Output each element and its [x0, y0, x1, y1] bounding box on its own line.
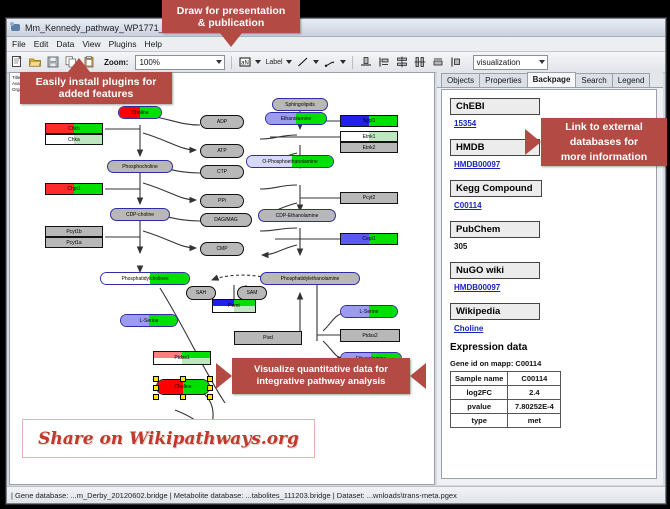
- backpage-header-nugowiki: NuGO wiki: [450, 262, 540, 279]
- menu-help[interactable]: Help: [145, 39, 162, 49]
- menu-view[interactable]: View: [82, 39, 100, 49]
- table-cell-value: met: [508, 414, 561, 428]
- table-row: log2FC 2.4: [451, 386, 561, 400]
- menu-bar: File Edit Data View Plugins Help: [7, 37, 665, 52]
- table-cell-key: Sample name: [451, 372, 508, 386]
- cofactor-node-atp[interactable]: ATP: [200, 144, 244, 158]
- callout-pointer-left: [525, 129, 541, 155]
- zoom-label: Zoom:: [104, 58, 128, 67]
- callout-external-databases: Link to external databases for more info…: [541, 118, 667, 166]
- table-cell-value: 7.80252E-4: [508, 400, 561, 414]
- node-label: DAG/MAG: [214, 217, 238, 223]
- cofactor-node-sam[interactable]: SAM: [237, 286, 267, 300]
- new-file-button[interactable]: [10, 55, 24, 69]
- open-folder-button[interactable]: [28, 55, 42, 69]
- menu-edit[interactable]: Edit: [34, 39, 49, 49]
- callout-line-1: Easily install plugins for: [36, 76, 157, 88]
- metabolite-node-l-serine-right[interactable]: L-Serine: [340, 305, 398, 318]
- tab-properties[interactable]: Properties: [479, 73, 527, 87]
- interaction-tool[interactable]: [323, 55, 337, 69]
- node-label: Pemt: [228, 303, 240, 309]
- menu-file[interactable]: File: [12, 39, 26, 49]
- node-label: ATP: [217, 148, 226, 154]
- backpage-header-kegg: Kegg Compound: [450, 180, 542, 197]
- gene-node-pcyt1a[interactable]: Pcyt1a: [45, 237, 103, 248]
- gene-node-sgpl1[interactable]: Sgpl1: [340, 115, 398, 127]
- stack-tool[interactable]: [449, 55, 463, 69]
- node-label: SAH: [196, 290, 206, 296]
- chevron-down-icon[interactable]: [340, 60, 346, 64]
- tab-objects[interactable]: Objects: [441, 73, 480, 87]
- callout-pointer-up: [68, 58, 90, 72]
- backpage-link-wikipedia[interactable]: Choline: [454, 324, 648, 333]
- status-bar-text: | Gene database: ...m_Derby_20120602.bri…: [11, 491, 457, 500]
- selection-handle[interactable]: [207, 385, 213, 391]
- callout-pointer-down: [220, 33, 242, 47]
- node-label: Chka: [68, 137, 80, 143]
- metabolite-node-l-serine-left[interactable]: L-Serine: [120, 314, 178, 327]
- backpage-link-nugowiki[interactable]: HMDB00097: [454, 283, 648, 292]
- metabolite-node-cdp-ethanolamine[interactable]: CDP-Ethanolamine: [258, 209, 336, 222]
- metabolite-node-phosphocholine[interactable]: Phosphocholine: [107, 160, 173, 173]
- node-label: ADP: [217, 119, 227, 125]
- backpage-header-pubchem: PubChem: [450, 221, 540, 238]
- selection-handle[interactable]: [207, 376, 213, 382]
- node-label: Ptdss1: [174, 355, 189, 361]
- table-cell-key: pvalue: [451, 400, 508, 414]
- callout-line-2: & publication: [198, 17, 265, 29]
- selection-handle[interactable]: [153, 394, 159, 400]
- gene-node-pemt[interactable]: Pemt: [212, 299, 256, 313]
- tab-search[interactable]: Search: [575, 73, 612, 87]
- chevron-down-icon: [539, 60, 545, 64]
- share-banner-text: Share on Wikipathways.org: [38, 429, 299, 449]
- callout-install-plugins: Easily install plugins for added feature…: [20, 72, 172, 104]
- callout-line-2: databases for: [570, 135, 638, 150]
- share-banner: Share on Wikipathways.org: [22, 419, 315, 458]
- gene-node-etnk1[interactable]: Etnk1: [340, 131, 398, 142]
- node-label: CTP: [217, 169, 227, 175]
- common-width-tool[interactable]: [431, 55, 445, 69]
- node-label: Etnk1: [363, 134, 376, 140]
- gene-node-pcyt1b[interactable]: Pcyt1b: [45, 226, 103, 237]
- toolbar-separator: [231, 56, 232, 69]
- cofactor-node-ctp[interactable]: CTP: [200, 165, 244, 179]
- gene-node-pisd[interactable]: Pisd: [234, 331, 302, 345]
- metabolite-node-cdp-choline[interactable]: CDP-choline: [110, 208, 170, 221]
- node-label: Etnk2: [363, 145, 376, 151]
- tab-legend[interactable]: Legend: [612, 73, 651, 87]
- chevron-down-icon[interactable]: [255, 60, 261, 64]
- gene-node-chka[interactable]: Chka: [45, 134, 103, 145]
- callout-draw-for-publication: Draw for presentation & publication: [162, 0, 300, 33]
- backpage-header-wikipedia: Wikipedia: [450, 303, 540, 320]
- app-icon: [10, 22, 21, 33]
- gene-node-ptdss2[interactable]: Ptdss2: [340, 329, 400, 342]
- tab-backpage[interactable]: Backpage: [527, 72, 577, 87]
- cofactor-node-sah[interactable]: SAH: [186, 286, 216, 300]
- node-label: Sgpl1: [363, 118, 376, 124]
- expression-table: Sample name C00114 log2FC 2.4 pvalue 7.8…: [450, 371, 561, 428]
- backpage-header-chebi: ChEBI: [450, 98, 540, 115]
- selection-handle[interactable]: [180, 376, 186, 382]
- cofactor-node-cmp[interactable]: CMP: [200, 242, 244, 256]
- chevron-down-icon[interactable]: [286, 60, 292, 64]
- node-label: Phosphatidylcholines: [122, 276, 169, 282]
- selection-handle[interactable]: [180, 394, 186, 400]
- node-label: O-Phosphoethanolamine: [262, 159, 317, 165]
- node-label: Pcyt2: [363, 195, 376, 201]
- gene-node-ptdss1[interactable]: Ptdss1: [153, 351, 211, 365]
- gene-node-cept1[interactable]: Cept1: [340, 233, 398, 245]
- toolbar-separator: [352, 56, 353, 69]
- zoom-value: 100%: [139, 58, 159, 67]
- title-bar: Mm_Kennedy_pathway_WP1771_45176.gpml: [7, 19, 665, 37]
- gene-node-etnk2[interactable]: Etnk2: [340, 142, 398, 153]
- callout-visualize-quantitative-data: Visualize quantitative data for integrat…: [232, 358, 410, 394]
- node-label: Pisd: [263, 335, 273, 341]
- node-label: L-Serine: [140, 318, 159, 324]
- menu-plugins[interactable]: Plugins: [109, 39, 137, 49]
- selection-handle[interactable]: [153, 376, 159, 382]
- table-cell-value: 2.4: [508, 386, 561, 400]
- node-label: Chpt1: [67, 186, 80, 192]
- node-label: Pcyt1b: [66, 229, 81, 235]
- side-panel-tabs: Objects Properties Backpage Search Legen…: [437, 72, 663, 88]
- metabolite-node-sphingolipids[interactable]: Sphingolipids: [272, 98, 328, 111]
- node-label: Ptdss2: [362, 333, 377, 339]
- node-label: CMP: [216, 246, 227, 252]
- node-label: L-Serine: [360, 309, 379, 315]
- selection-handle[interactable]: [207, 394, 213, 400]
- align-left-tool[interactable]: [377, 55, 391, 69]
- metabolite-node-o-phosphoethanolamine[interactable]: O-Phosphoethanolamine: [246, 155, 334, 168]
- node-label: Choline: [132, 110, 149, 116]
- svg-text:aN: aN: [242, 61, 250, 67]
- node-label: CDP-choline: [126, 212, 154, 218]
- save-disk-button[interactable]: [46, 55, 60, 69]
- label-tool-text[interactable]: Label: [265, 59, 282, 66]
- node-label: Cept1: [362, 236, 375, 242]
- status-bar: | Gene database: ...m_Derby_20120602.bri…: [7, 486, 665, 503]
- callout-line-1: Draw for presentation: [177, 5, 286, 17]
- gene-node-pcyt2[interactable]: Pcyt2: [340, 192, 398, 204]
- table-cell-key: log2FC: [451, 386, 508, 400]
- callout-line-2: added features: [59, 88, 134, 100]
- node-label: Choline: [175, 384, 192, 390]
- selection-handle[interactable]: [153, 385, 159, 391]
- node-label: Pcyt1a: [66, 240, 81, 246]
- menu-data[interactable]: Data: [56, 39, 74, 49]
- table-row: pvalue 7.80252E-4: [451, 400, 561, 414]
- gene-id-line: Gene id on mapp: C00114: [450, 359, 648, 368]
- cofactor-node-dag-mag[interactable]: DAG/MAG: [200, 213, 252, 227]
- tool-bar: Zoom: 100% aN Label: [7, 52, 665, 73]
- table-cell-value: C00114: [508, 372, 561, 386]
- chevron-down-icon: [216, 60, 222, 64]
- callout-pointer-right: [410, 363, 426, 389]
- callout-pointer-left: [216, 363, 232, 389]
- screenshot-root: Mm_Kennedy_pathway_WP1771_45176.gpml Fil…: [0, 0, 670, 509]
- table-row: type met: [451, 414, 561, 428]
- node-label: Phosphocholine: [122, 164, 158, 170]
- distribute-vertical-tool[interactable]: [395, 55, 409, 69]
- callout-line-1: Link to external: [565, 120, 643, 135]
- line-tool[interactable]: [296, 55, 310, 69]
- node-label: Sphingolipids: [285, 102, 315, 108]
- callout-line-3: more information: [561, 150, 647, 165]
- table-row: Sample name C00114: [451, 372, 561, 386]
- node-label: PPi: [218, 198, 226, 204]
- backpage-value-pubchem: 305: [454, 242, 648, 251]
- metabolite-node-phosphatidylethanolamine[interactable]: Phosphatidylethanolamine: [260, 272, 360, 285]
- datanode-tool[interactable]: aN: [238, 55, 252, 69]
- node-label: SAM: [247, 290, 258, 296]
- visualization-combobox[interactable]: visualization: [473, 55, 548, 70]
- node-label: CDP-Ethanolamine: [276, 213, 319, 219]
- zoom-combobox[interactable]: 100%: [135, 55, 225, 70]
- chevron-down-icon[interactable]: [313, 60, 319, 64]
- visualization-value: visualization: [477, 58, 521, 67]
- expression-data-title: Expression data: [450, 342, 648, 353]
- distribute-horizontal-tool[interactable]: [413, 55, 427, 69]
- node-label: Ethanolamine: [281, 116, 312, 122]
- backpage-link-kegg[interactable]: C00114: [454, 201, 648, 210]
- gene-node-chkb[interactable]: Chkb: [45, 123, 103, 134]
- node-label: Phosphatidylethanolamine: [281, 276, 340, 282]
- callout-line-1: Visualize quantitative data for: [254, 364, 388, 376]
- gene-node-chpt1[interactable]: Chpt1: [45, 183, 103, 195]
- node-label: Chkb: [68, 126, 80, 132]
- callout-line-2: integrative pathway analysis: [257, 376, 386, 388]
- metabolite-node-choline-top[interactable]: Choline: [118, 106, 162, 119]
- metabolite-node-phosphatidylcholines[interactable]: Phosphatidylcholines: [100, 272, 190, 285]
- align-top-tool[interactable]: [359, 55, 373, 69]
- cofactor-node-adp[interactable]: ADP: [200, 115, 244, 129]
- metabolite-node-ethanolamine-top[interactable]: Ethanolamine: [265, 112, 327, 125]
- table-cell-key: type: [451, 414, 508, 428]
- cofactor-node-ppi[interactable]: PPi: [200, 194, 244, 208]
